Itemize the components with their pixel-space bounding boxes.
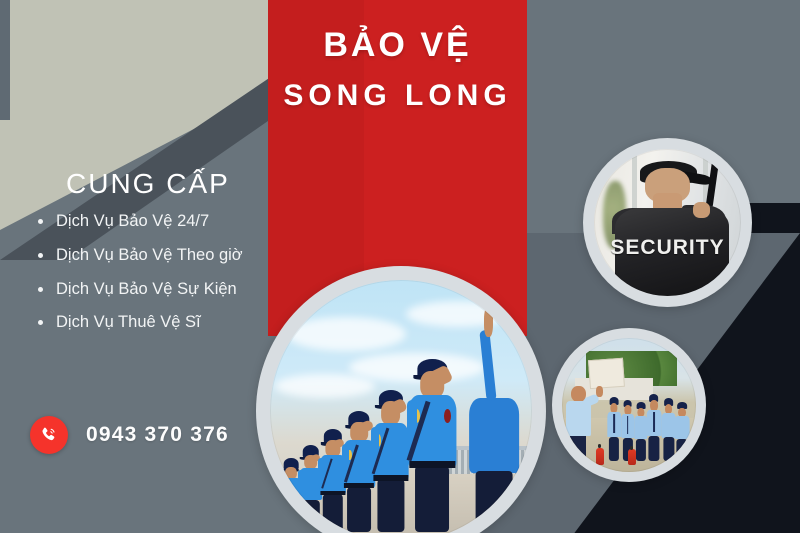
poster-canvas: BẢO VỆ SONG LONG CUNG CẤP Dịch Vụ Bảo Vệ… — [0, 0, 800, 533]
security-back-text: SECURITY — [594, 236, 741, 260]
services-list: Dịch Vụ Bảo Vệ 24/7 Dịch Vụ Bảo Vệ Theo … — [30, 212, 275, 347]
bullet-icon — [38, 287, 43, 292]
list-item: Dịch Vụ Bảo Vệ Sự Kiện — [30, 280, 275, 300]
service-label: Dịch Vụ Bảo Vệ Sự Kiện — [56, 280, 237, 298]
service-label: Dịch Vụ Thuê Vệ Sĩ — [56, 313, 201, 331]
fire-drill-photo — [552, 328, 706, 482]
phone-icon[interactable] — [30, 416, 68, 454]
guards-saluting-photo — [256, 266, 546, 533]
fire-extinguisher-icon — [628, 449, 636, 465]
list-item: Dịch Vụ Thuê Vệ Sĩ — [30, 313, 275, 333]
background-left-edge-sliver — [0, 0, 10, 120]
security-jacket-artwork: SECURITY — [594, 149, 741, 296]
list-item: Dịch Vụ Bảo Vệ Theo giờ — [30, 246, 275, 266]
bullet-icon — [38, 253, 43, 258]
bullet-icon — [38, 219, 43, 224]
fire-drill-artwork — [562, 338, 696, 472]
service-label: Dịch Vụ Bảo Vệ Theo giờ — [56, 246, 243, 264]
bullet-icon — [38, 320, 43, 325]
contact-phone-block[interactable]: 0943 370 376 — [30, 416, 229, 454]
security-jacket-photo-inner: SECURITY — [594, 149, 741, 296]
fire-drill-photo-inner — [562, 338, 696, 472]
phone-number[interactable]: 0943 370 376 — [86, 423, 229, 447]
guards-saluting-photo-inner — [270, 280, 532, 533]
security-jacket-photo: SECURITY — [583, 138, 752, 307]
list-item: Dịch Vụ Bảo Vệ 24/7 — [30, 212, 275, 232]
guards-saluting-artwork — [270, 280, 532, 533]
services-heading: CUNG CẤP — [66, 168, 230, 200]
service-label: Dịch Vụ Bảo Vệ 24/7 — [56, 212, 209, 230]
fire-extinguisher-icon — [596, 448, 604, 465]
